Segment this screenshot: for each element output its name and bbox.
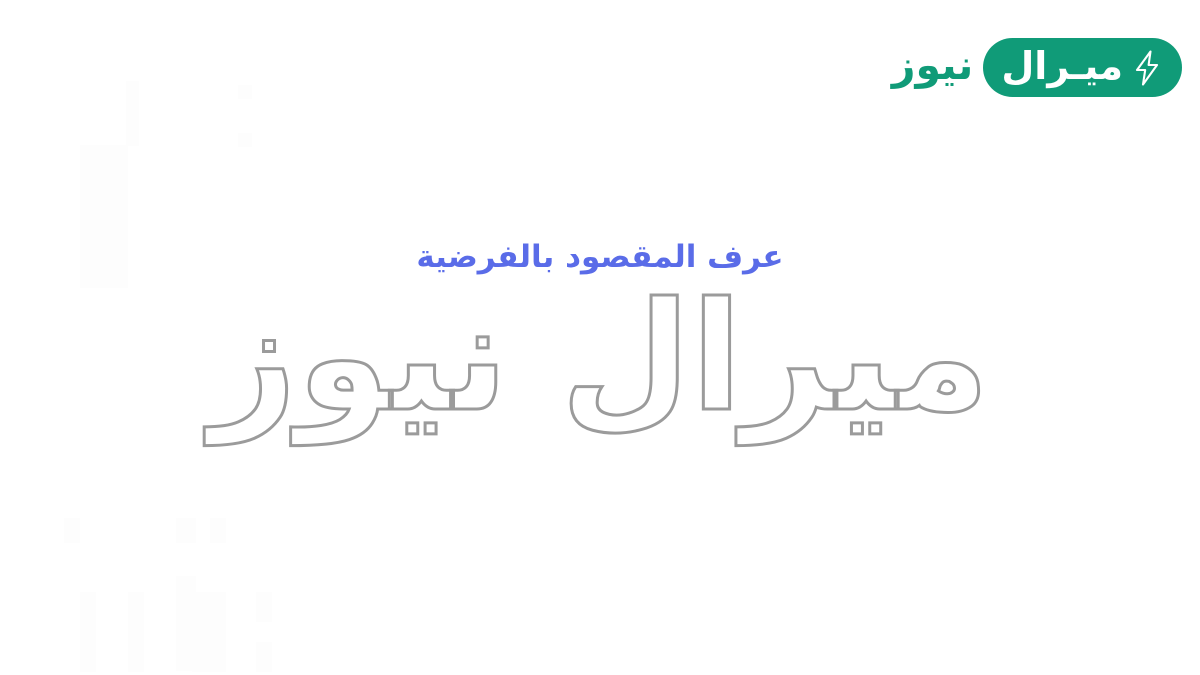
background-artifact: [256, 592, 272, 622]
page-headline: عرف المقصود بالفرضية: [0, 240, 1200, 274]
background-artifact: [210, 518, 226, 543]
lightning-bolt-icon: [1132, 50, 1162, 86]
brand-news-label: نيوز: [892, 45, 973, 86]
background-artifact: [176, 518, 196, 543]
brand-watermark-text: ميرال نيوز: [210, 272, 989, 445]
background-artifact: [80, 592, 96, 672]
brand-pill[interactable]: ميـرال: [983, 38, 1182, 97]
background-artifact: [238, 85, 252, 99]
background-artifact: [192, 626, 210, 640]
brand-logo[interactable]: ميـرال نيوز: [892, 38, 1182, 97]
background-artifact: [128, 592, 144, 672]
brand-pill-label: ميـرال: [1001, 47, 1123, 85]
background-artifact: [192, 658, 210, 672]
background-artifact: [256, 642, 272, 672]
background-artifact: [176, 576, 196, 671]
background-artifact: [196, 592, 226, 672]
watermark-container: ميرال نيوز: [0, 272, 1200, 445]
background-artifact: [126, 81, 139, 146]
background-artifact: [238, 133, 252, 147]
background-artifact: [64, 518, 80, 543]
page-canvas: ميـرال نيوز عرف المقصود بالفرضية ميرال ن…: [0, 0, 1200, 675]
